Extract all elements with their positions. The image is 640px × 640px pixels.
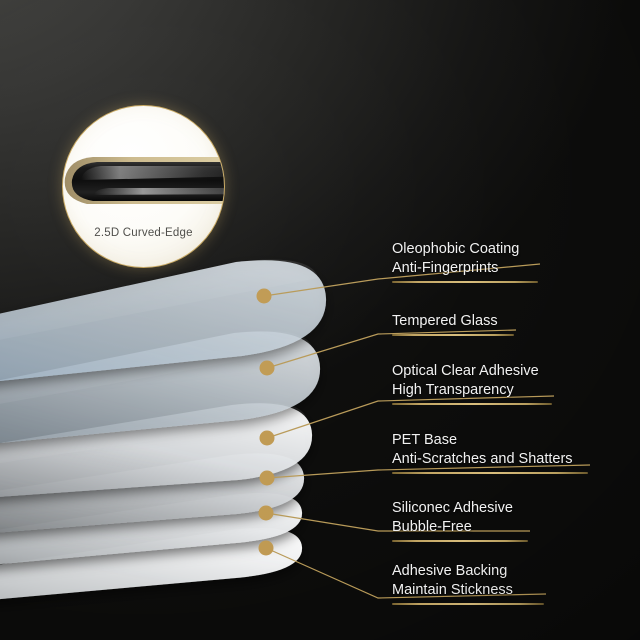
callout-title: PET Base xyxy=(392,431,588,450)
infographic-canvas: Overall Protection xyxy=(0,0,640,640)
page-title: Overall Protection xyxy=(0,26,640,74)
callout-subtitle: Maintain Stickness xyxy=(392,581,544,600)
callout-title: Optical Clear Adhesive xyxy=(392,362,552,381)
callout-subtitle: High Transparency xyxy=(392,381,552,400)
layer-dot-adhesive-backing[interactable] xyxy=(259,541,274,556)
callout-underline xyxy=(392,403,552,405)
callout-underline xyxy=(392,281,538,283)
callout-title: Adhesive Backing xyxy=(392,562,544,581)
curved-edge-phone-illustration xyxy=(62,154,225,214)
callout-subtitle: Anti-Fingerprints xyxy=(392,259,538,278)
layer-dot-oleophobic-coating[interactable] xyxy=(257,289,272,304)
callout-siliconec-adhesive: Siliconec Adhesive Bubble-Free xyxy=(392,499,528,542)
layer-dot-pet-base[interactable] xyxy=(260,471,275,486)
callout-title: Oleophobic Coating xyxy=(392,240,538,259)
callout-adhesive-backing: Adhesive Backing Maintain Stickness xyxy=(392,562,544,605)
layer-dot-tempered-glass[interactable] xyxy=(260,361,275,376)
callout-pet-base: PET Base Anti-Scratches and Shatters xyxy=(392,431,588,474)
callout-subtitle: Bubble-Free xyxy=(392,518,528,537)
callout-title: Siliconec Adhesive xyxy=(392,499,528,518)
curved-edge-detail-circle: 2.5D Curved-Edge xyxy=(62,105,225,268)
callout-underline xyxy=(392,334,514,336)
callout-leader-lines xyxy=(0,0,640,640)
layer-dot-siliconec-adhesive[interactable] xyxy=(259,506,274,521)
callout-subtitle: Anti-Scratches and Shatters xyxy=(392,450,588,469)
callout-underline xyxy=(392,540,528,542)
callout-oleophobic-coating: Oleophobic Coating Anti-Fingerprints xyxy=(392,240,538,283)
curved-edge-caption: 2.5D Curved-Edge xyxy=(63,227,224,239)
callout-optical-clear-adhesive: Optical Clear Adhesive High Transparency xyxy=(392,362,552,405)
callout-underline xyxy=(392,472,588,474)
layer-dot-optical-clear-adhesive[interactable] xyxy=(260,431,275,446)
callout-tempered-glass: Tempered Glass xyxy=(392,312,514,336)
callout-title: Tempered Glass xyxy=(392,312,514,331)
callout-underline xyxy=(392,603,544,605)
